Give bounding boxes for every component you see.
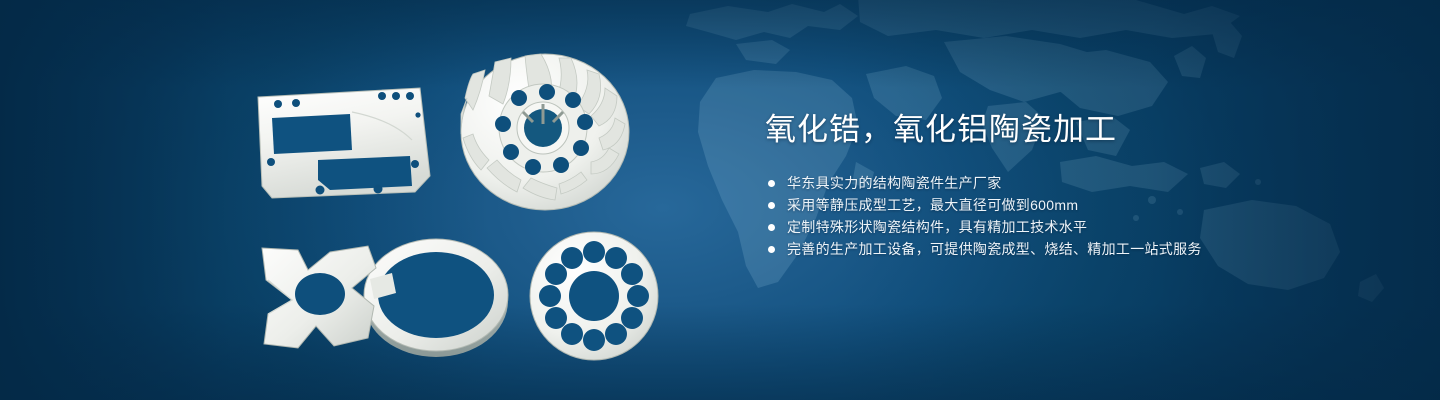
list-item-label: 华东具实力的结构陶瓷件生产厂家: [787, 172, 1002, 194]
bullet-dot-icon: [768, 224, 775, 231]
ceramic-cross-vane: [262, 246, 376, 348]
product-collage: [0, 0, 720, 400]
list-item: 采用等静压成型工艺，最大直径可做到600mm: [765, 194, 1385, 216]
list-item-label: 完善的生产加工设备，可提供陶瓷成型、烧结、精加工一站式服务: [787, 238, 1202, 260]
ceramic-ring: [364, 239, 508, 357]
feature-list: 华东具实力的结构陶瓷件生产厂家 采用等静压成型工艺，最大直径可做到600mm 定…: [765, 172, 1385, 260]
list-item: 华东具实力的结构陶瓷件生产厂家: [765, 172, 1385, 194]
ceramic-perforated-disc: [530, 232, 658, 360]
hero-banner: 氧化锆，氧化铝陶瓷加工 华东具实力的结构陶瓷件生产厂家 采用等静压成型工艺，最大…: [0, 0, 1440, 400]
list-item-label: 定制特殊形状陶瓷结构件，具有精加工技术水平: [787, 216, 1087, 238]
bullet-dot-icon: [768, 246, 775, 253]
banner-copy: 氧化锆，氧化铝陶瓷加工 华东具实力的结构陶瓷件生产厂家 采用等静压成型工艺，最大…: [765, 110, 1385, 260]
bullet-dot-icon: [768, 180, 775, 187]
bullet-dot-icon: [768, 202, 775, 209]
list-item: 定制特殊形状陶瓷结构件，具有精加工技术水平: [765, 216, 1385, 238]
ceramic-machined-plate: [258, 88, 430, 198]
list-item: 完善的生产加工设备，可提供陶瓷成型、烧结、精加工一站式服务: [765, 238, 1385, 260]
list-item-label: 采用等静压成型工艺，最大直径可做到600mm: [787, 194, 1078, 216]
page-title: 氧化锆，氧化铝陶瓷加工: [765, 110, 1385, 150]
ceramic-impeller-disc: [461, 54, 629, 210]
